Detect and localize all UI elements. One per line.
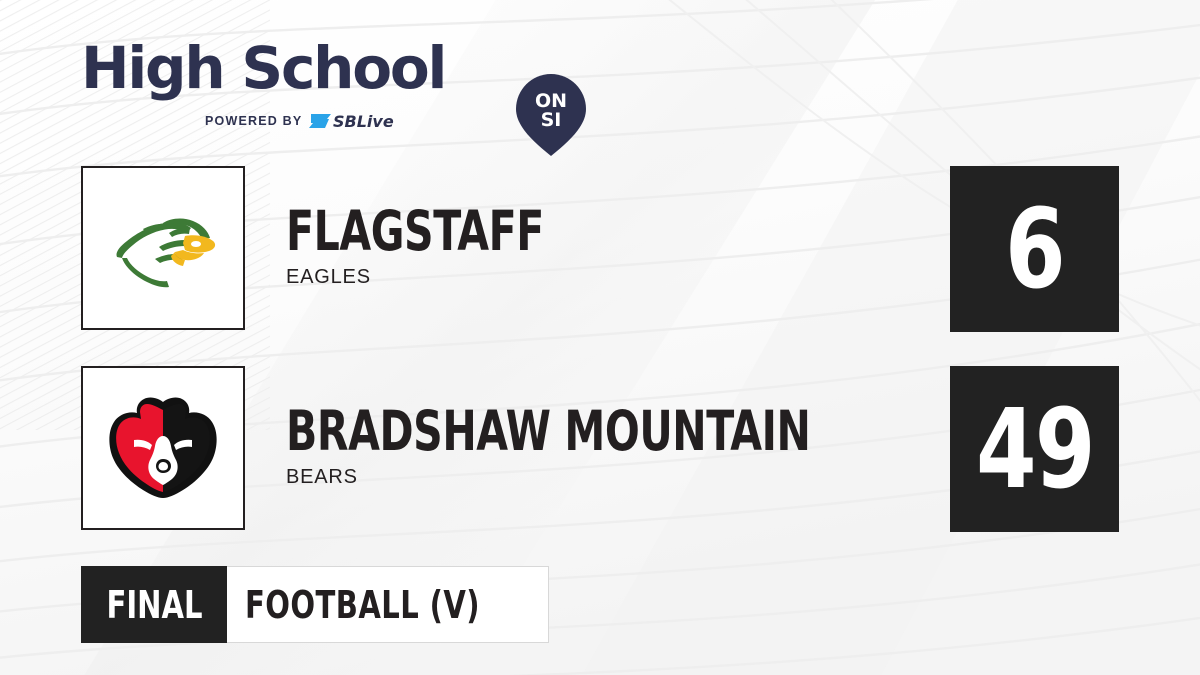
team-logo-card bbox=[81, 166, 245, 330]
status-badge-label: FINAL bbox=[106, 583, 202, 627]
team-score-box: 49 bbox=[950, 366, 1119, 532]
brand-wordmark: High School bbox=[81, 36, 445, 100]
team-mascot: BEARS bbox=[286, 466, 986, 489]
team-identity: FLAGSTAFF EAGLES bbox=[286, 202, 986, 289]
team-row: FLAGSTAFF EAGLES 6 bbox=[81, 166, 1119, 334]
eagle-head-icon bbox=[103, 203, 223, 293]
powered-by-label: POWERED BY bbox=[205, 114, 302, 128]
sport-label-panel: FOOTBALL (V) bbox=[227, 566, 549, 643]
team-score-box: 6 bbox=[950, 166, 1119, 332]
team-mascot: EAGLES bbox=[286, 266, 986, 289]
team-identity: BRADSHAW MOUNTAIN BEARS bbox=[286, 402, 986, 489]
team-row: BRADSHAW MOUNTAIN BEARS 49 bbox=[81, 366, 1119, 534]
team-name: FLAGSTAFF bbox=[286, 202, 867, 260]
bear-head-icon bbox=[104, 396, 222, 500]
sblive-logo-icon: SBLive bbox=[309, 110, 415, 132]
pin-label-si: SI bbox=[541, 109, 562, 131]
sblive-wordmark: SBLive bbox=[333, 112, 394, 131]
game-status-bar: FINAL FOOTBALL (V) bbox=[81, 566, 549, 643]
status-badge: FINAL bbox=[81, 566, 227, 643]
sport-label: FOOTBALL (V) bbox=[245, 583, 480, 627]
team-logo-card bbox=[81, 366, 245, 530]
team-name: BRADSHAW MOUNTAIN bbox=[286, 402, 867, 460]
scoreboard-graphic: High School ON SI POWERED BY SBLive bbox=[0, 0, 1200, 675]
team-score: 6 bbox=[1005, 194, 1064, 304]
on-si-pin-icon: ON SI bbox=[513, 72, 589, 158]
powered-by-block: POWERED BY SBLive bbox=[205, 110, 415, 132]
brand-logo: High School ON SI POWERED BY SBLive bbox=[81, 36, 521, 136]
team-score: 49 bbox=[976, 394, 1094, 504]
